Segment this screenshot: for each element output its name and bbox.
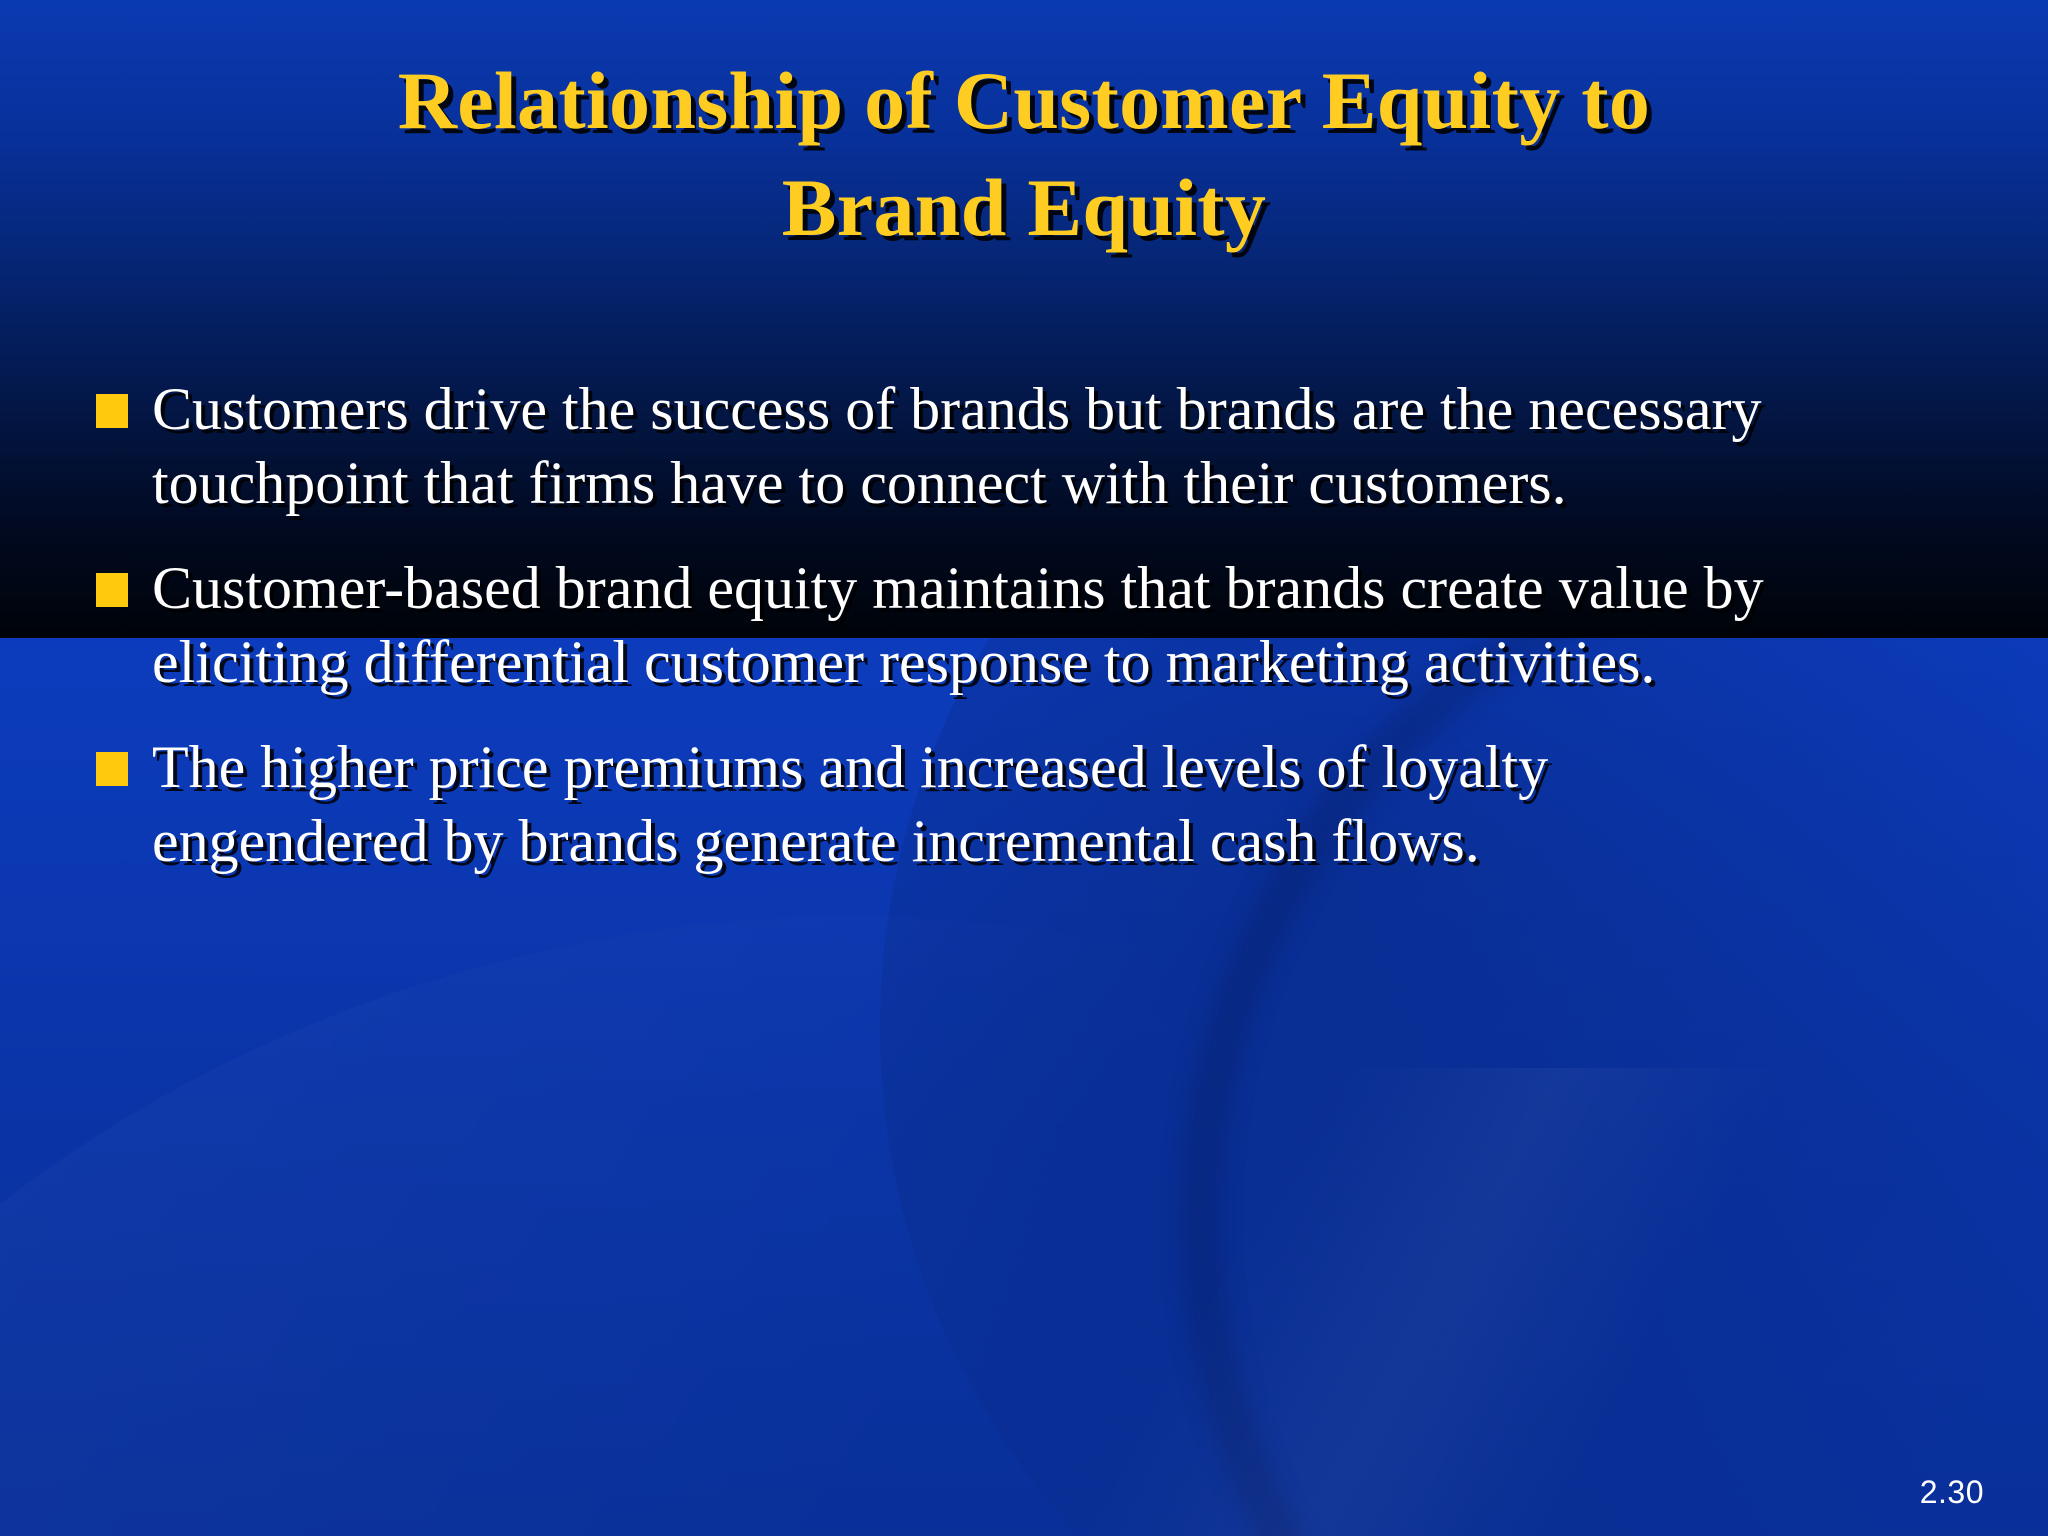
- background-diagonal-band: [420, 1068, 2048, 1536]
- bullet-item: Customers drive the success of brands bu…: [96, 372, 1976, 521]
- square-bullet-icon: [96, 573, 128, 607]
- bullet-text: Customers drive the success of brands bu…: [152, 372, 1792, 521]
- square-bullet-icon: [96, 394, 128, 428]
- bullet-item: Customer-based brand equity maintains th…: [96, 551, 1976, 700]
- square-bullet-icon: [96, 752, 128, 786]
- slide-title: Relationship of Customer Equity to Brand…: [96, 48, 1952, 261]
- page-number: 2.30: [1920, 1476, 1984, 1508]
- presentation-slide: Relationship of Customer Equity to Brand…: [0, 0, 2048, 1536]
- bullet-text: Customer-based brand equity maintains th…: [152, 551, 1792, 700]
- slide-body-content: Customers drive the success of brands bu…: [96, 372, 1976, 908]
- bullet-item: The higher price premiums and increased …: [96, 730, 1976, 879]
- bullet-text: The higher price premiums and increased …: [152, 730, 1792, 879]
